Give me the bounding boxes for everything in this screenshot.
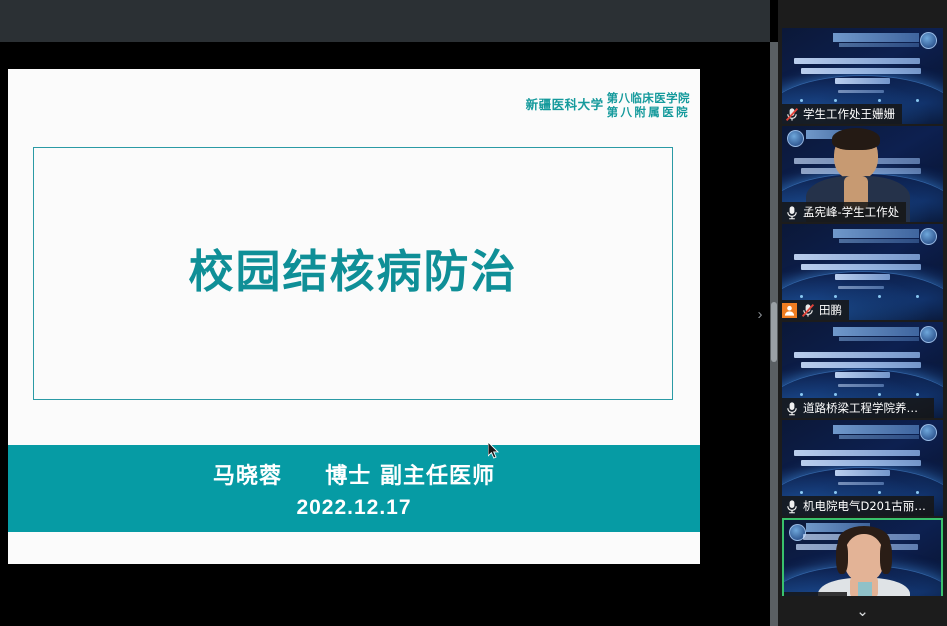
- presentation-slide: 新疆医科大学 第八临床医学院 第八附属医院 校园结核病防治 马晓蓉 博士 副主任…: [8, 69, 700, 564]
- participant-name: 机电院电气D201古丽加纳提: [803, 498, 927, 514]
- institution-name: 新疆医科大学: [526, 98, 604, 111]
- slide-banner: [833, 425, 919, 434]
- participant-name: 道路桥梁工程学院养护212...: [803, 400, 927, 416]
- slide-banner: [833, 327, 919, 336]
- department-line-2: 第八附属医院: [607, 105, 690, 119]
- participant-nameplate: 道路桥梁工程学院养护212...: [782, 398, 934, 418]
- participant-thumbnail[interactable]: 田鹏: [782, 224, 943, 320]
- university-emblem-icon: [920, 326, 937, 343]
- university-emblem-icon: [920, 32, 937, 49]
- participant-nameplate: 学生工作处王姗姗: [782, 104, 902, 124]
- scroll-down-button[interactable]: ⌄: [778, 596, 947, 626]
- meeting-top-bar: [0, 0, 770, 42]
- presentation-date: 2022.12.17: [296, 496, 411, 520]
- slide-banner: [833, 229, 919, 238]
- mouse-cursor: [488, 442, 500, 460]
- mic-unmuted-icon: [785, 205, 799, 220]
- slide-dots: [782, 295, 943, 298]
- participant-nameplate: 机电院电气D201古丽加纳提: [782, 496, 934, 516]
- mic-muted-icon: [785, 107, 799, 122]
- participants-panel: 学生工作处王姗姗: [778, 0, 947, 626]
- participants-scrollbar[interactable]: [770, 42, 778, 626]
- slide-dots: [782, 491, 943, 494]
- slide-banner: [833, 33, 919, 42]
- chevron-down-icon: ⌄: [856, 604, 869, 619]
- expand-panel-arrow[interactable]: ›: [752, 304, 768, 326]
- slide-title: 校园结核病防治: [188, 235, 517, 300]
- university-emblem-icon: [920, 424, 937, 441]
- slide-text-lines: [794, 58, 931, 97]
- slide-subbanner: [839, 435, 919, 439]
- slide-presenter-band: 马晓蓉 博士 副主任医师 2022.12.17: [8, 445, 700, 532]
- mic-unmuted-icon: [785, 401, 799, 416]
- meeting-window: 新疆医科大学 第八临床医学院 第八附属医院 校园结核病防治 马晓蓉 博士 副主任…: [0, 0, 947, 626]
- slide-dots: [782, 393, 943, 396]
- participant-thumbnail[interactable]: 机电院电气D201古丽加纳提: [782, 420, 943, 516]
- participant-name: 孟宪峰-学生工作处: [803, 204, 899, 220]
- slide-text-lines: [794, 450, 931, 489]
- participant-thumbnail[interactable]: 孟宪峰-学生工作处: [782, 126, 943, 222]
- slide-dots: [782, 99, 943, 102]
- participant-name: 田鹏: [819, 302, 842, 318]
- participant-nameplate: 田鹏: [782, 300, 849, 320]
- participant-name: 学生工作处王姗姗: [803, 106, 895, 122]
- slide-subbanner: [839, 337, 919, 341]
- slide-subbanner: [839, 239, 919, 243]
- university-emblem-icon: [920, 228, 937, 245]
- slide-text-lines: [794, 254, 931, 293]
- participants-scrollbar-thumb[interactable]: [771, 302, 777, 362]
- mic-muted-icon: [801, 303, 815, 318]
- slide-text-lines: [794, 352, 931, 391]
- participant-thumbnail[interactable]: 道路桥梁工程学院养护212...: [782, 322, 943, 418]
- participant-nameplate: 孟宪峰-学生工作处: [782, 202, 906, 222]
- top-bar-empty-area: [0, 0, 770, 42]
- avatar-icon: [782, 303, 797, 318]
- department-names: 第八临床医学院 第八附属医院: [607, 91, 690, 119]
- presenter-name: 马晓蓉 博士 副主任医师: [213, 458, 495, 490]
- participant-thumbnail[interactable]: 学生工作处王姗姗: [782, 28, 943, 124]
- shared-screen-stage: 新疆医科大学 第八临床医学院 第八附属医院 校园结核病防治 马晓蓉 博士 副主任…: [0, 42, 770, 626]
- slide-subbanner: [839, 43, 919, 47]
- mic-unmuted-icon: [785, 499, 799, 514]
- department-line-1: 第八临床医学院: [607, 91, 690, 105]
- slide-title-box: 校园结核病防治: [33, 147, 673, 400]
- slide-header: 新疆医科大学 第八临床医学院 第八附属医院: [526, 91, 690, 119]
